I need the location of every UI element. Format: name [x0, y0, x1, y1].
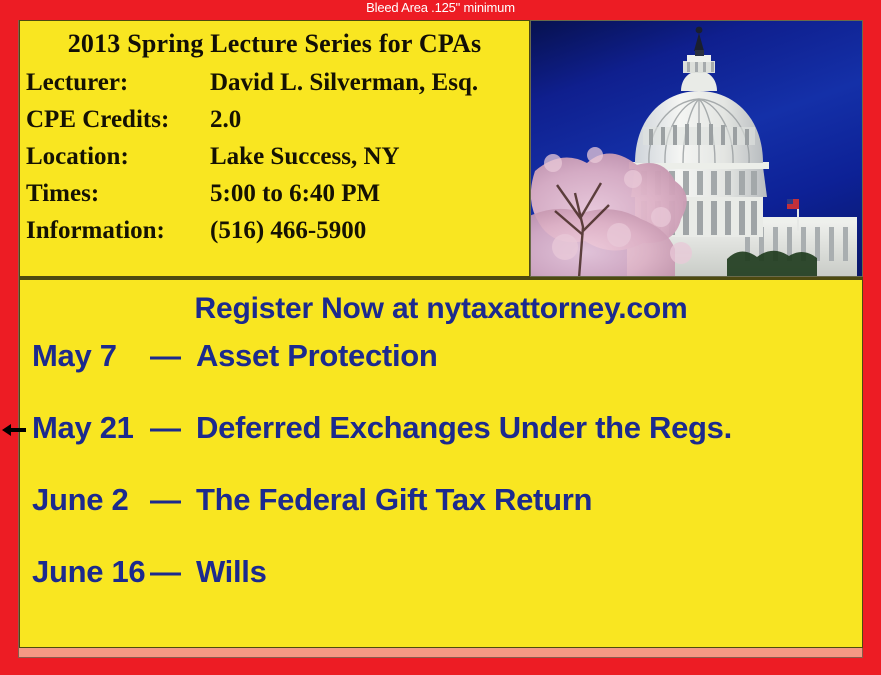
- session-date: June 16: [32, 554, 150, 590]
- detail-label: Lecturer:: [26, 69, 210, 97]
- session-dash: —: [150, 338, 196, 374]
- detail-label: Information:: [26, 217, 210, 245]
- detail-value: 2.0: [210, 106, 529, 134]
- list-item: May 21 — Deferred Exchanges Under the Re…: [32, 410, 862, 482]
- detail-row: Lecturer: David L. Silverman, Esq.: [26, 69, 529, 106]
- schedule-card: Register Now at nytaxattorney.com May 7 …: [19, 279, 863, 648]
- session-dash: —: [150, 482, 196, 518]
- session-date: May 7: [32, 338, 150, 374]
- detail-row: CPE Credits: 2.0: [26, 106, 529, 143]
- session-dash: —: [150, 554, 196, 590]
- lecture-info-card: 2013 Spring Lecture Series for CPAs Lect…: [19, 20, 530, 277]
- capitol-illustration: [531, 21, 863, 277]
- detail-label: Location:: [26, 143, 210, 171]
- detail-label: Times:: [26, 180, 210, 208]
- session-dash: —: [150, 410, 196, 446]
- session-topic: Deferred Exchanges Under the Regs.: [196, 410, 862, 446]
- detail-value: Lake Success, NY: [210, 143, 529, 171]
- session-topic: The Federal Gift Tax Return: [196, 482, 862, 518]
- session-date: June 2: [32, 482, 150, 518]
- register-call-to-action[interactable]: Register Now at nytaxattorney.com: [20, 280, 862, 326]
- detail-value: 5:00 to 6:40 PM: [210, 180, 529, 208]
- page-title: 2013 Spring Lecture Series for CPAs: [20, 21, 529, 63]
- lecture-details-list: Lecturer: David L. Silverman, Esq. CPE C…: [20, 69, 529, 254]
- list-item: June 16 — Wills: [32, 554, 862, 626]
- session-topic: Wills: [196, 554, 862, 590]
- list-item: June 2 — The Federal Gift Tax Return: [32, 482, 862, 554]
- us-capitol-dome-photo: [530, 20, 863, 277]
- detail-row: Location: Lake Success, NY: [26, 143, 529, 180]
- bleed-canvas: Bleed Area .125" minimum 2013 Spring Lec…: [0, 0, 881, 675]
- session-list: May 7 — Asset Protection May 21 — Deferr…: [20, 338, 862, 626]
- flyer-top-panel: 2013 Spring Lecture Series for CPAs Lect…: [19, 20, 863, 277]
- detail-label: CPE Credits:: [26, 106, 210, 134]
- detail-value: David L. Silverman, Esq.: [210, 69, 529, 97]
- session-date: May 21: [32, 410, 150, 446]
- session-topic: Asset Protection: [196, 338, 862, 374]
- list-item: May 7 — Asset Protection: [32, 338, 862, 410]
- detail-row: Times: 5:00 to 6:40 PM: [26, 180, 529, 217]
- detail-value: (516) 466-5900: [210, 217, 529, 245]
- panel-divider: [19, 277, 863, 280]
- arrow-left-icon: [0, 421, 30, 439]
- detail-row: Information: (516) 466-5900: [26, 217, 529, 254]
- bleed-area-label: Bleed Area .125" minimum: [0, 0, 881, 18]
